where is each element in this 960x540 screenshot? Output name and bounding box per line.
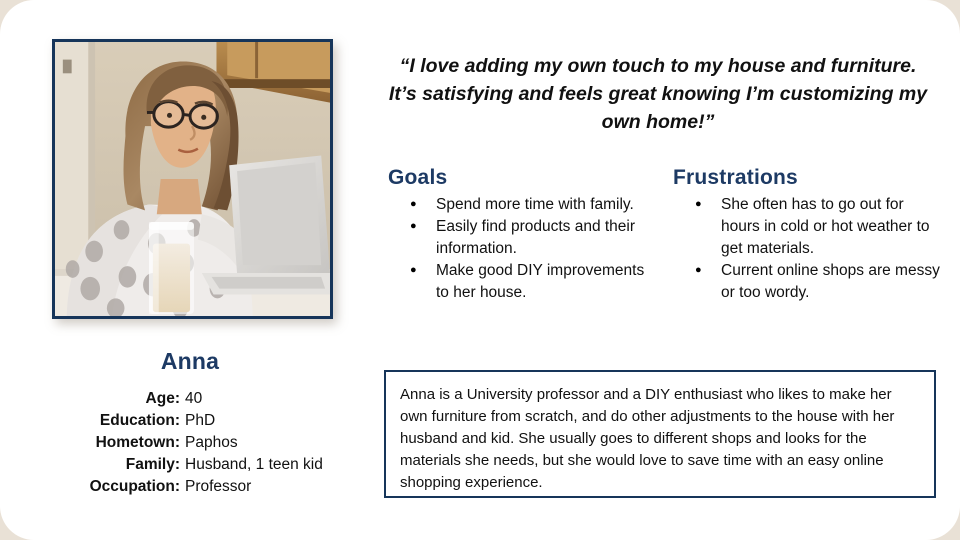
persona-bio-text: Anna is a University professor and a DIY… [400, 384, 920, 494]
list-item: Current online shops are messy or too wo… [673, 260, 941, 304]
persona-name: Anna [0, 348, 380, 375]
attribute-row-age: Age: 40 [0, 388, 380, 410]
frustrations-heading: Frustrations [673, 166, 941, 190]
persona-attributes: Age: 40 Education: PhD Hometown: Paphos … [0, 388, 380, 498]
list-item: She often has to go out for hours in col… [673, 194, 941, 260]
list-item: Easily find products and their informati… [388, 216, 646, 260]
list-item: Make good DIY improvements to her house. [388, 260, 646, 304]
frustrations-section: Frustrations She often has to go out for… [673, 166, 941, 304]
attribute-label-occupation: Occupation: [0, 476, 185, 498]
attribute-label-age: Age: [0, 388, 185, 410]
persona-left-column: Anna Age: 40 Education: PhD Hometown: Pa… [0, 0, 380, 540]
attribute-value-occupation: Professor [185, 476, 251, 498]
attribute-label-education: Education: [0, 410, 185, 432]
attribute-row-family: Family: Husband, 1 teen kid [0, 454, 380, 476]
attribute-row-occupation: Occupation: Professor [0, 476, 380, 498]
attribute-row-hometown: Hometown: Paphos [0, 432, 380, 454]
attribute-label-family: Family: [0, 454, 185, 476]
attribute-value-education: PhD [185, 410, 215, 432]
persona-bio-box: Anna is a University professor and a DIY… [384, 370, 936, 498]
persona-quote: “I love adding my own touch to my house … [388, 52, 928, 136]
attribute-value-family: Husband, 1 teen kid [185, 454, 323, 476]
attribute-row-education: Education: PhD [0, 410, 380, 432]
persona-card: Anna Age: 40 Education: PhD Hometown: Pa… [0, 0, 960, 540]
persona-right-column: “I love adding my own touch to my house … [380, 0, 960, 540]
persona-photo [52, 39, 333, 319]
persona-photo-illustration [55, 42, 330, 316]
goals-list: Spend more time with family. Easily find… [388, 194, 646, 304]
attribute-label-hometown: Hometown: [0, 432, 185, 454]
list-item: Spend more time with family. [388, 194, 646, 216]
attribute-value-hometown: Paphos [185, 432, 238, 454]
attribute-value-age: 40 [185, 388, 202, 410]
goals-heading: Goals [388, 166, 646, 190]
frustrations-list: She often has to go out for hours in col… [673, 194, 941, 304]
goals-section: Goals Spend more time with family. Easil… [388, 166, 646, 304]
